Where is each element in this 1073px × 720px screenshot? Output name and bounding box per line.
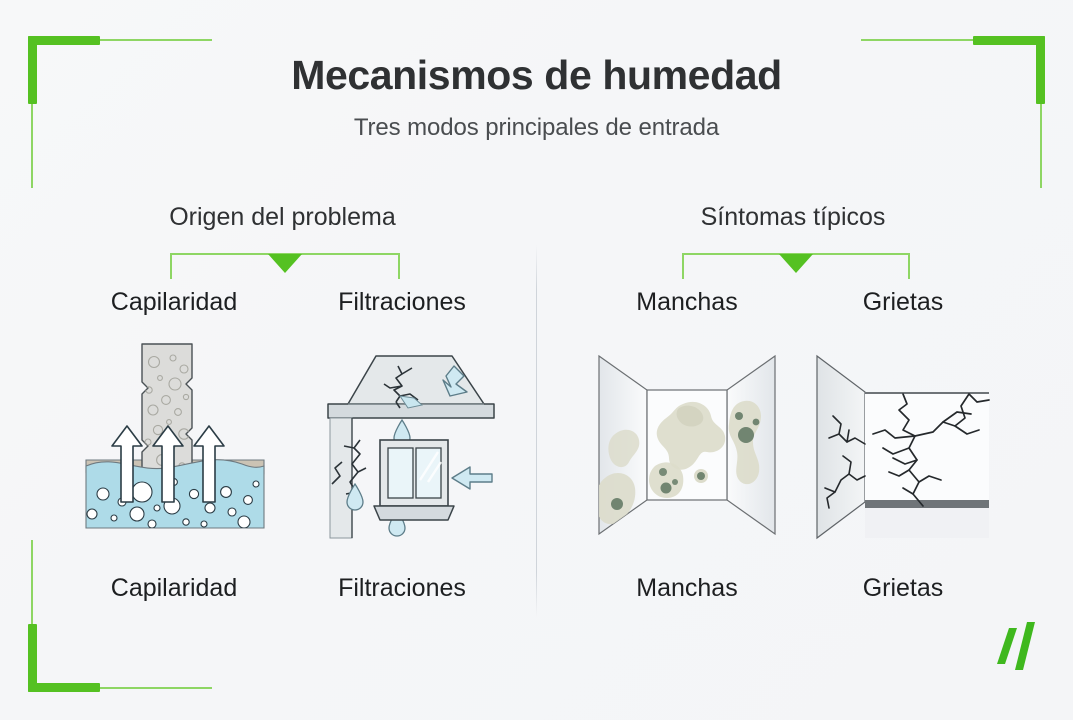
item-top-label-capilaridad: Capilaridad <box>74 288 274 317</box>
wall-front <box>865 394 989 500</box>
bracket-arm-horizontal <box>973 36 1045 45</box>
bracket-extension-horizontal <box>100 687 212 689</box>
illustration-wall-cracks <box>803 342 1003 547</box>
roof-slab <box>328 356 494 418</box>
connector-arrow-down-icon <box>779 254 813 273</box>
group-heading-sintomas: Síntomas típicos <box>608 203 978 232</box>
connector-tick-right <box>398 253 400 279</box>
wall-top-edge <box>865 392 989 394</box>
item-top-label-filtraciones: Filtraciones <box>302 288 502 317</box>
bracket-arm-horizontal <box>28 683 100 692</box>
bracket-arm-vertical <box>28 624 37 692</box>
logo-slash-right <box>1015 622 1035 670</box>
connector-arrow-down-icon <box>268 254 302 273</box>
item-bottom-label-filtraciones: Filtraciones <box>302 574 502 603</box>
wall-bottom-edge <box>865 500 989 508</box>
infographic-canvas: Mecanismos de humedad Tres modos princip… <box>0 0 1073 720</box>
connector-tick-left <box>682 253 684 279</box>
group-heading-origen: Origen del problema <box>95 203 470 232</box>
page-subtitle: Tres modos principales de entrada <box>0 114 1073 142</box>
connector-tick-right <box>908 253 910 279</box>
bracket-extension-horizontal <box>100 39 212 41</box>
item-bottom-label-grietas: Grietas <box>803 574 1003 603</box>
bracket-extension-horizontal <box>861 39 973 41</box>
illustration-roof-leak <box>302 342 502 547</box>
section-divider <box>536 245 537 617</box>
moisture-arrows-up <box>112 426 224 502</box>
bracket-extension-vertical <box>31 540 33 624</box>
connector-tick-left <box>170 253 172 279</box>
illustration-mold-stains <box>587 342 787 547</box>
item-bottom-label-manchas: Manchas <box>587 574 787 603</box>
item-top-label-manchas: Manchas <box>587 288 787 317</box>
logo-slash-left <box>997 628 1017 664</box>
illustration-rising-damp <box>74 342 274 547</box>
wall-column <box>330 418 352 538</box>
item-bottom-label-capilaridad: Capilaridad <box>74 574 274 603</box>
item-top-label-grietas: Grietas <box>803 288 1003 317</box>
water-body <box>86 460 264 528</box>
floor <box>865 508 989 538</box>
brand-logo <box>977 620 1039 676</box>
arrow-left-icon <box>452 467 492 489</box>
wall-side <box>817 356 865 538</box>
bracket-arm-horizontal <box>28 36 100 45</box>
window <box>374 440 454 520</box>
page-title: Mecanismos de humedad <box>0 52 1073 99</box>
